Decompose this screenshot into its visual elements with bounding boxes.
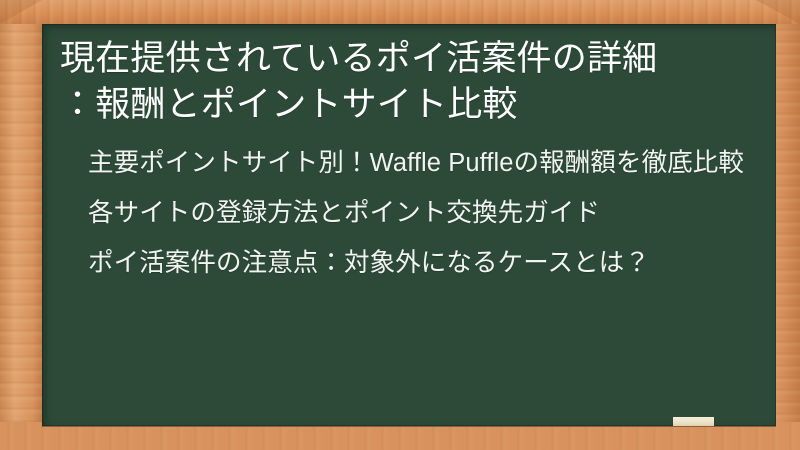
list-item: ポイ活案件の注意点：対象外になるケースとは？ (88, 246, 748, 282)
frame-corner-top-right (756, 0, 800, 24)
list-item: 主要ポイントサイト別！Waffle Puffleの報酬額を徹底比較 (88, 146, 748, 182)
page-title: 現在提供されているポイ活案件の詳細 ：報酬とポイントサイト比較 (60, 36, 758, 128)
wood-frame-left (0, 0, 42, 450)
article-outline-list: 主要ポイントサイト別！Waffle Puffleの報酬額を徹底比較 各サイトの登… (60, 146, 758, 281)
wood-frame-top (0, 0, 800, 24)
chalkboard-surface: 現在提供されているポイ活案件の詳細 ：報酬とポイントサイト比較 主要ポイントサイ… (42, 24, 776, 426)
frame-corner-top-left (0, 0, 42, 24)
chalk-eraser-icon (673, 417, 714, 426)
wood-frame-bottom (0, 422, 800, 450)
chalkboard-content: 現在提供されているポイ活案件の詳細 ：報酬とポイントサイト比較 主要ポイントサイ… (42, 24, 776, 426)
blackboard-frame: 現在提供されているポイ活案件の詳細 ：報酬とポイントサイト比較 主要ポイントサイ… (0, 0, 800, 450)
list-item: 各サイトの登録方法とポイント交換先ガイド (88, 196, 748, 232)
